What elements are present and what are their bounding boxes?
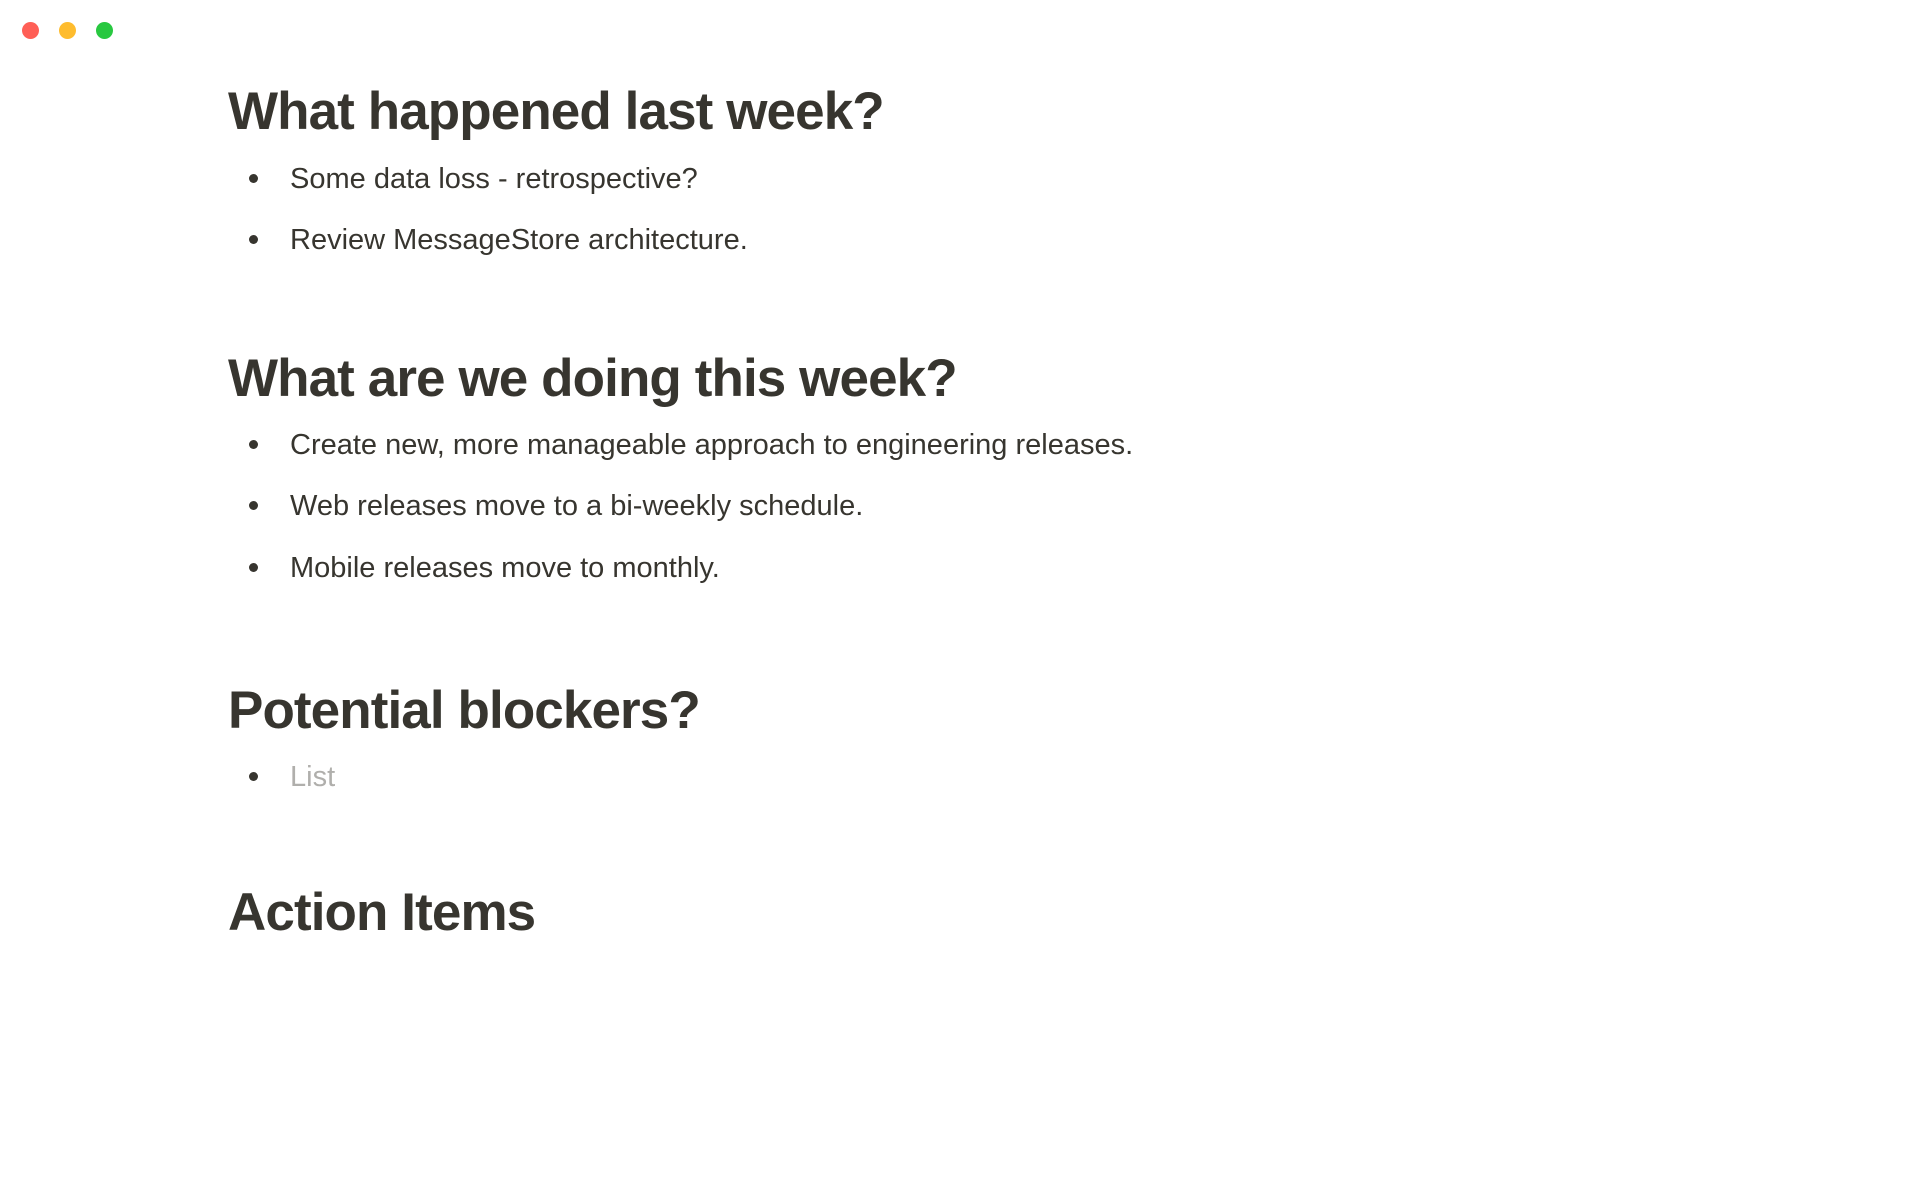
window-titlebar <box>0 0 1920 62</box>
list-item[interactable]: Mobile releases move to monthly. <box>228 549 1800 588</box>
list-item-placeholder-text: List <box>290 761 335 793</box>
bullet-dot-icon <box>249 440 258 449</box>
section-heading[interactable]: What are we doing this week? <box>228 348 1800 411</box>
list-item-placeholder[interactable]: List <box>228 758 1800 797</box>
list-item-text: Mobile releases move to monthly. <box>290 552 720 584</box>
app-window: What happened last week? Some data loss … <box>0 0 1920 1200</box>
section-what-happened-last-week: What happened last week? Some data loss … <box>228 81 1800 260</box>
minimize-window-button[interactable] <box>59 22 76 39</box>
list-item-text: Web releases move to a bi-weekly schedul… <box>290 490 863 522</box>
section-heading[interactable]: Action Items <box>228 882 1800 945</box>
section-heading[interactable]: What happened last week? <box>228 81 1800 144</box>
section-heading[interactable]: Potential blockers? <box>228 680 1800 743</box>
list-item-text: Review MessageStore architecture. <box>290 224 748 256</box>
document-body[interactable]: What happened last week? Some data loss … <box>0 62 1920 1200</box>
list-item[interactable]: Create new, more manageable approach to … <box>228 426 1800 465</box>
bullet-dot-icon <box>249 772 258 781</box>
bullet-dot-icon <box>249 235 258 244</box>
section-what-are-we-doing-this-week: What are we doing this week? Create new,… <box>228 348 1800 588</box>
close-window-button[interactable] <box>22 22 39 39</box>
section-action-items: Action Items <box>228 882 1800 945</box>
bullet-dot-icon <box>249 174 258 183</box>
bullet-dot-icon <box>249 501 258 510</box>
bulleted-list: Some data loss - retrospective? Review M… <box>228 160 1800 260</box>
bullet-dot-icon <box>249 563 258 572</box>
section-potential-blockers: Potential blockers? List <box>228 680 1800 798</box>
list-item[interactable]: Review MessageStore architecture. <box>228 221 1800 260</box>
maximize-window-button[interactable] <box>96 22 113 39</box>
bulleted-list: List <box>228 758 1800 797</box>
bulleted-list: Create new, more manageable approach to … <box>228 426 1800 587</box>
window-controls <box>22 22 113 39</box>
list-item[interactable]: Some data loss - retrospective? <box>228 160 1800 199</box>
list-item-text: Some data loss - retrospective? <box>290 163 698 195</box>
list-item-text: Create new, more manageable approach to … <box>290 429 1133 461</box>
list-item[interactable]: Web releases move to a bi-weekly schedul… <box>228 487 1800 526</box>
